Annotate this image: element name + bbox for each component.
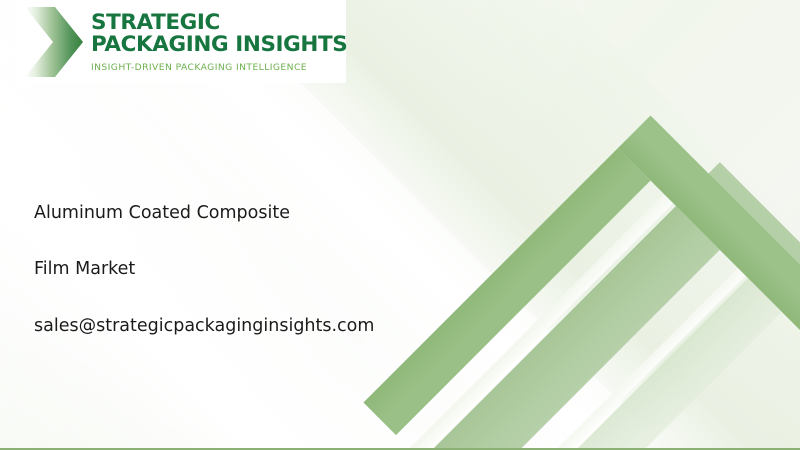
logo-lockup: STRATEGIC PACKAGING INSIGHTS INSIGHT-DRI… <box>17 0 346 83</box>
chevron-arrow-mark-icon <box>23 5 85 79</box>
title-slide: STRATEGIC PACKAGING INSIGHTS INSIGHT-DRI… <box>0 0 800 450</box>
report-title-line-2: Film Market <box>34 261 464 279</box>
slide-copy-block: Aluminum Coated Composite Film Market sa… <box>34 205 464 336</box>
contact-email: sales@strategicpackaginginsights.com <box>34 316 464 336</box>
report-title-line-1: Aluminum Coated Composite <box>34 205 464 223</box>
logo-wordmark: STRATEGIC PACKAGING INSIGHTS INSIGHT-DRI… <box>91 10 347 74</box>
logo-line-one: STRATEGIC <box>91 12 347 34</box>
logo-line-two: PACKAGING INSIGHTS <box>91 34 347 56</box>
logo-tagline: INSIGHT-DRIVEN PACKAGING INTELLIGENCE <box>91 62 347 73</box>
